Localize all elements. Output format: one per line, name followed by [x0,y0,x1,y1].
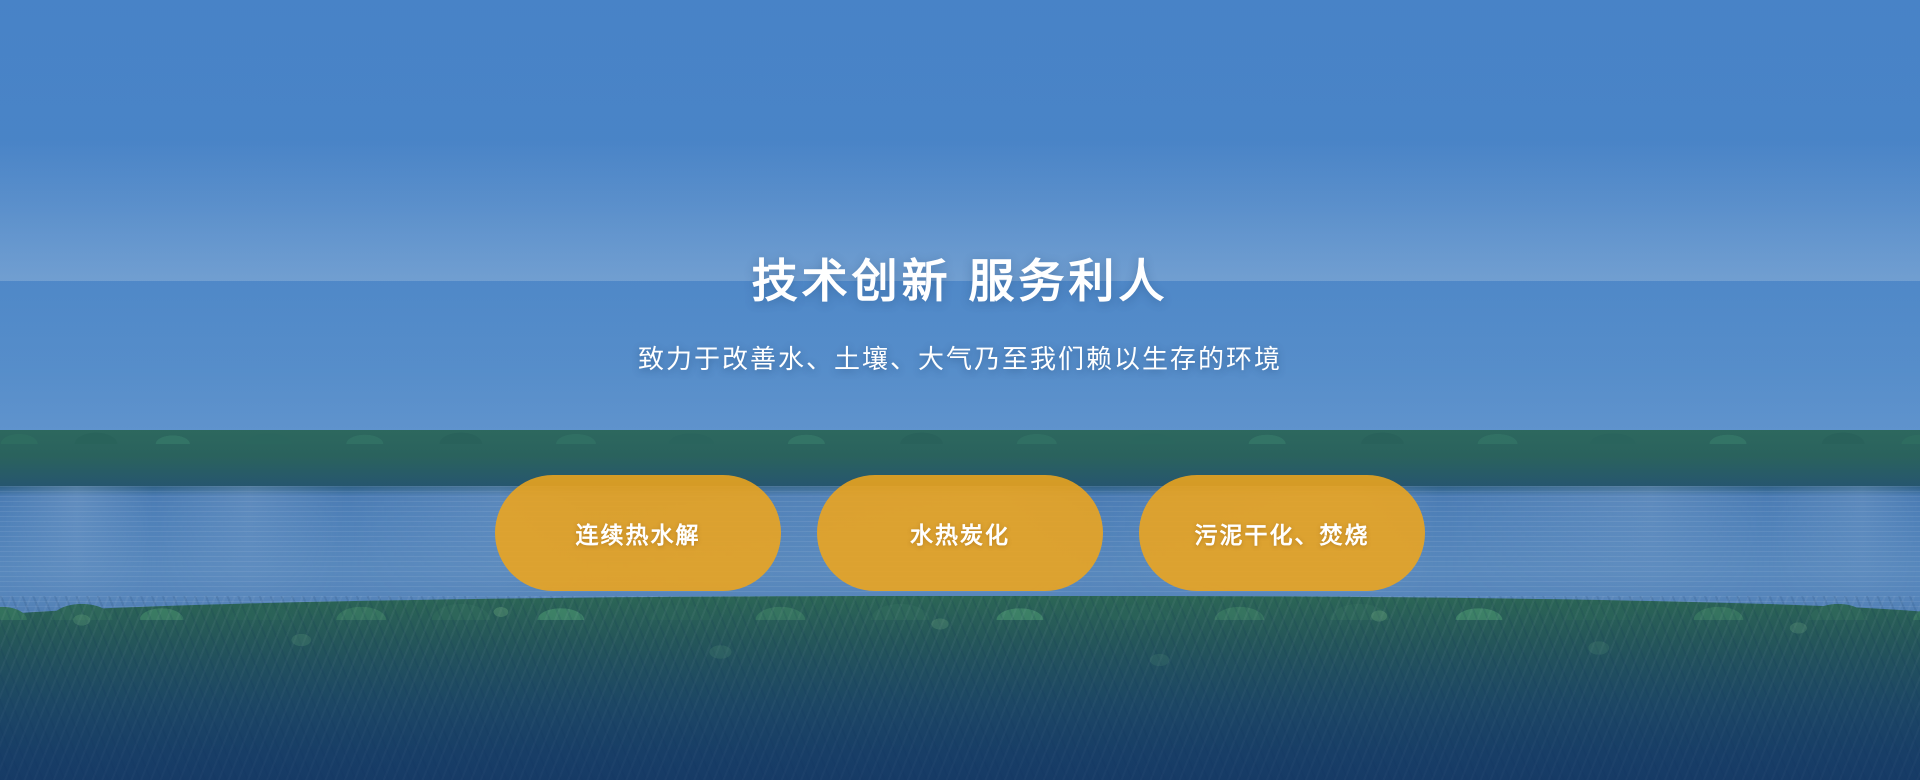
page-title: 技术创新 服务利人 [752,258,1169,304]
cta-button-row: 连续热水解 水热炭化 污泥干化、焚烧 [495,475,1425,591]
cta-button-continuous-thermal-hydrolysis[interactable]: 连续热水解 [495,475,781,591]
hero-banner: 技术创新 服务利人 致力于改善水、土壤、大气乃至我们赖以生存的环境 连续热水解 … [0,0,1920,780]
cta-button-hydrothermal-carbonization[interactable]: 水热炭化 [817,475,1103,591]
hero-content: 技术创新 服务利人 致力于改善水、土壤、大气乃至我们赖以生存的环境 连续热水解 … [0,0,1920,780]
cta-button-sludge-drying-incineration[interactable]: 污泥干化、焚烧 [1139,475,1425,591]
hero-subtitle: 致力于改善水、土壤、大气乃至我们赖以生存的环境 [638,346,1282,372]
